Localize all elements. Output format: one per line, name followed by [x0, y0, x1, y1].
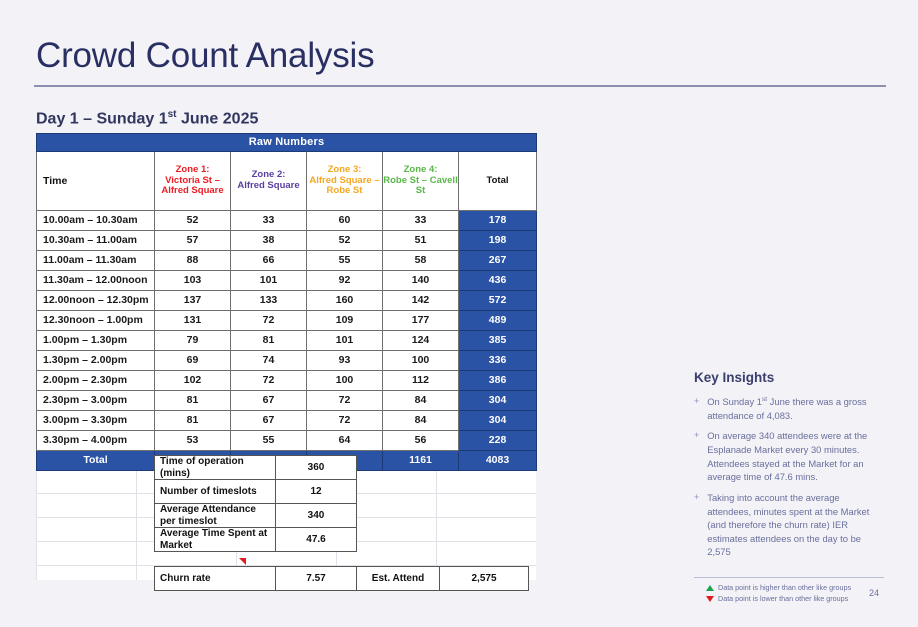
cell-zone-3: 72: [307, 391, 383, 411]
table-header-row: Time Zone 1: Victoria St – Alfred Square…: [37, 152, 537, 211]
legend-higher-text: Data point is higher than other like gro…: [718, 582, 851, 593]
cell-zone-2: 101: [231, 271, 307, 291]
cell-zone-4: 100: [383, 351, 459, 371]
table-row: 12.30noon – 1.00pm13172109177489: [37, 311, 537, 331]
cell-total: 489: [459, 311, 537, 331]
cell-zone-3: 101: [307, 331, 383, 351]
triangle-up-icon: [706, 585, 714, 591]
page-number: 24: [869, 588, 879, 598]
summary-table-body: Time of operation (mins)360Number of tim…: [155, 456, 529, 552]
summary-row-label: Average Time Spent at Market: [155, 528, 276, 552]
cell-zone-4: 84: [383, 411, 459, 431]
summary-row: Average Time Spent at Market47.6: [155, 528, 529, 552]
table-row: 11.30am – 12.00noon10310192140436: [37, 271, 537, 291]
table-row: 3.00pm – 3.30pm81677284304: [37, 411, 537, 431]
table-row: 3.30pm – 4.00pm53556456228: [37, 431, 537, 451]
cell-zone-3: 72: [307, 411, 383, 431]
legend-lower: Data point is lower than other like grou…: [706, 593, 851, 604]
table-row: 12.00noon – 12.30pm137133160142572: [37, 291, 537, 311]
cell-zone-2: 133: [231, 291, 307, 311]
summary-row-value: 47.6: [276, 528, 357, 552]
title-divider: [34, 85, 886, 87]
cell-zone-3: 109: [307, 311, 383, 331]
cell-zone-1: 102: [155, 371, 231, 391]
cell-zone-3: 64: [307, 431, 383, 451]
legend-higher: Data point is higher than other like gro…: [706, 582, 851, 593]
cell-total: 178: [459, 211, 537, 231]
cell-zone-2: 72: [231, 311, 307, 331]
header-zone-2: Zone 2: Alfred Square: [231, 152, 307, 211]
cell-time: 2.00pm – 2.30pm: [37, 371, 155, 391]
cell-total: 198: [459, 231, 537, 251]
cell-zone-4: 56: [383, 431, 459, 451]
cell-time: 1.30pm – 2.00pm: [37, 351, 155, 371]
cell-time: 10.30am – 11.00am: [37, 231, 155, 251]
table-row: 10.00am – 10.30am52336033178: [37, 211, 537, 231]
cell-total: 572: [459, 291, 537, 311]
cell-time: 10.00am – 10.30am: [37, 211, 155, 231]
cell-total: 336: [459, 351, 537, 371]
key-insight-item: +Taking into account the average attende…: [694, 491, 884, 559]
cell-zone-1: 53: [155, 431, 231, 451]
summary-row-label: Time of operation (mins): [155, 456, 276, 480]
key-insight-item: +On Sunday 1st June there was a gross at…: [694, 395, 884, 422]
slide-canvas: Crowd Count Analysis Day 1 – Sunday 1st …: [0, 0, 918, 627]
est-attend-label: Est. Attend: [357, 567, 440, 591]
cell-total: 267: [459, 251, 537, 271]
cell-zone-3: 100: [307, 371, 383, 391]
table-row: 10.30am – 11.00am57385251198: [37, 231, 537, 251]
bullet-plus-icon: +: [694, 491, 699, 559]
cell-total: 385: [459, 331, 537, 351]
cell-zone-3: 55: [307, 251, 383, 271]
header-zone-3: Zone 3: Alfred Square – Robe St: [307, 152, 383, 211]
raw-numbers-table: Raw Numbers Time Zone 1: Victoria St – A…: [36, 133, 537, 471]
cell-zone-4: 124: [383, 331, 459, 351]
cell-zone-1: 57: [155, 231, 231, 251]
cell-time: 11.00am – 11.30am: [37, 251, 155, 271]
summary-row: Average Attendance per timeslot340: [155, 504, 529, 528]
cell-zone-2: 38: [231, 231, 307, 251]
cell-zone-1: 131: [155, 311, 231, 331]
cell-zone-1: 137: [155, 291, 231, 311]
cell-zone-2: 81: [231, 331, 307, 351]
summary-row-label: Average Attendance per timeslot: [155, 504, 276, 528]
cell-zone-1: 52: [155, 211, 231, 231]
summary-row: Number of timeslots12: [155, 480, 529, 504]
cell-zone-3: 60: [307, 211, 383, 231]
cell-zone-2: 66: [231, 251, 307, 271]
header-zone-1: Zone 1: Victoria St – Alfred Square: [155, 152, 231, 211]
table-row: 2.00pm – 2.30pm10272100112386: [37, 371, 537, 391]
table-row: 2.30pm – 3.00pm81677284304: [37, 391, 537, 411]
table-banner-row: Raw Numbers: [37, 134, 537, 152]
table-row: 1.00pm – 1.30pm7981101124385: [37, 331, 537, 351]
key-insight-text-pre: On average 340 attendees were at the Esp…: [707, 430, 867, 482]
key-insights-heading: Key Insights: [694, 370, 884, 385]
cell-zone-4: 33: [383, 211, 459, 231]
footer-divider: [694, 577, 884, 578]
subtitle-ordinal: st: [168, 109, 177, 120]
cell-time: 3.30pm – 4.00pm: [37, 431, 155, 451]
page-title: Crowd Count Analysis: [36, 36, 374, 76]
summary-spacer-row: [155, 552, 529, 567]
key-insight-text-pre: Taking into account the average attendee…: [707, 492, 869, 558]
header-zone-4: Zone 4: Robe St – Cavell St: [383, 152, 459, 211]
key-insights-panel: Key Insights +On Sunday 1st June there w…: [694, 370, 884, 566]
cell-zone-3: 93: [307, 351, 383, 371]
cell-comment-marker-icon: [239, 558, 246, 565]
zone3-line1: Zone 3:: [307, 165, 382, 176]
zone1-line3: Alfred Square: [155, 186, 230, 197]
cell-total: 228: [459, 431, 537, 451]
summary-row-value: 12: [276, 480, 357, 504]
cell-zone-2: 72: [231, 371, 307, 391]
table-row: 11.00am – 11.30am88665558267: [37, 251, 537, 271]
key-insight-text: On average 340 attendees were at the Esp…: [707, 429, 884, 484]
key-insight-text: Taking into account the average attendee…: [707, 491, 884, 559]
cell-time: 11.30am – 12.00noon: [37, 271, 155, 291]
slide-subtitle: Day 1 – Sunday 1st June 2025: [36, 109, 258, 128]
summary-row-pad: [357, 480, 529, 504]
summary-row-label: Number of timeslots: [155, 480, 276, 504]
cell-zone-4: 142: [383, 291, 459, 311]
cell-zone-1: 81: [155, 411, 231, 431]
raw-numbers-body: 10.00am – 10.30am5233603317810.30am – 11…: [37, 211, 537, 451]
bullet-plus-icon: +: [694, 395, 699, 422]
summary-table: Time of operation (mins)360Number of tim…: [154, 455, 529, 591]
cell-total: 304: [459, 391, 537, 411]
cell-total: 436: [459, 271, 537, 291]
key-insight-text-pre: On Sunday 1: [707, 396, 762, 407]
footer-legend: Data point is higher than other like gro…: [706, 582, 851, 604]
header-time: Time: [37, 152, 155, 211]
triangle-down-icon: [706, 596, 714, 602]
zone4-line3: St: [383, 186, 458, 197]
cell-zone-1: 79: [155, 331, 231, 351]
bullet-plus-icon: +: [694, 429, 699, 484]
cell-total: 386: [459, 371, 537, 391]
cell-time: 12.30noon – 1.00pm: [37, 311, 155, 331]
cell-zone-1: 103: [155, 271, 231, 291]
key-insight-item: +On average 340 attendees were at the Es…: [694, 429, 884, 484]
subtitle-suffix: June 2025: [177, 110, 259, 127]
zone1-line1: Zone 1:: [155, 165, 230, 176]
cell-time: 2.30pm – 3.00pm: [37, 391, 155, 411]
zone4-line1: Zone 4:: [383, 165, 458, 176]
totals-label: Total: [37, 451, 155, 471]
zone3-line3: Robe St: [307, 186, 382, 197]
subtitle-prefix: Day 1 – Sunday 1: [36, 110, 168, 127]
cell-total: 304: [459, 411, 537, 431]
cell-zone-1: 81: [155, 391, 231, 411]
summary-row: Time of operation (mins)360: [155, 456, 529, 480]
summary-row-value: 340: [276, 504, 357, 528]
header-total: Total: [459, 152, 537, 211]
cell-time: 12.00noon – 12.30pm: [37, 291, 155, 311]
cell-zone-2: 67: [231, 411, 307, 431]
summary-row-value: 360: [276, 456, 357, 480]
cell-zone-3: 92: [307, 271, 383, 291]
raw-numbers-banner: Raw Numbers: [37, 134, 537, 152]
summary-row-pad: [357, 504, 529, 528]
cell-zone-4: 84: [383, 391, 459, 411]
churn-rate-label: Churn rate: [155, 567, 276, 591]
cell-zone-4: 140: [383, 271, 459, 291]
cell-zone-2: 55: [231, 431, 307, 451]
cell-zone-4: 58: [383, 251, 459, 271]
zone2-line2: Alfred Square: [231, 181, 306, 192]
cell-zone-1: 88: [155, 251, 231, 271]
summary-row-pad: [357, 456, 529, 480]
cell-zone-3: 160: [307, 291, 383, 311]
cell-zone-2: 67: [231, 391, 307, 411]
cell-zone-2: 33: [231, 211, 307, 231]
summary-row-pad: [357, 528, 529, 552]
table-row: 1.30pm – 2.00pm697493100336: [37, 351, 537, 371]
churn-rate-value: 7.57: [276, 567, 357, 591]
est-attend-value: 2,575: [440, 567, 529, 591]
churn-rate-row: Churn rate 7.57 Est. Attend 2,575: [155, 567, 529, 591]
legend-lower-text: Data point is lower than other like grou…: [718, 593, 848, 604]
cell-zone-1: 69: [155, 351, 231, 371]
cell-zone-4: 51: [383, 231, 459, 251]
cell-time: 3.00pm – 3.30pm: [37, 411, 155, 431]
cell-zone-4: 177: [383, 311, 459, 331]
cell-zone-4: 112: [383, 371, 459, 391]
key-insights-list: +On Sunday 1st June there was a gross at…: [694, 395, 884, 559]
cell-time: 1.00pm – 1.30pm: [37, 331, 155, 351]
cell-zone-3: 52: [307, 231, 383, 251]
cell-zone-2: 74: [231, 351, 307, 371]
key-insight-text: On Sunday 1st June there was a gross att…: [707, 395, 884, 422]
spreadsheet-region: Raw Numbers Time Zone 1: Victoria St – A…: [36, 133, 536, 580]
